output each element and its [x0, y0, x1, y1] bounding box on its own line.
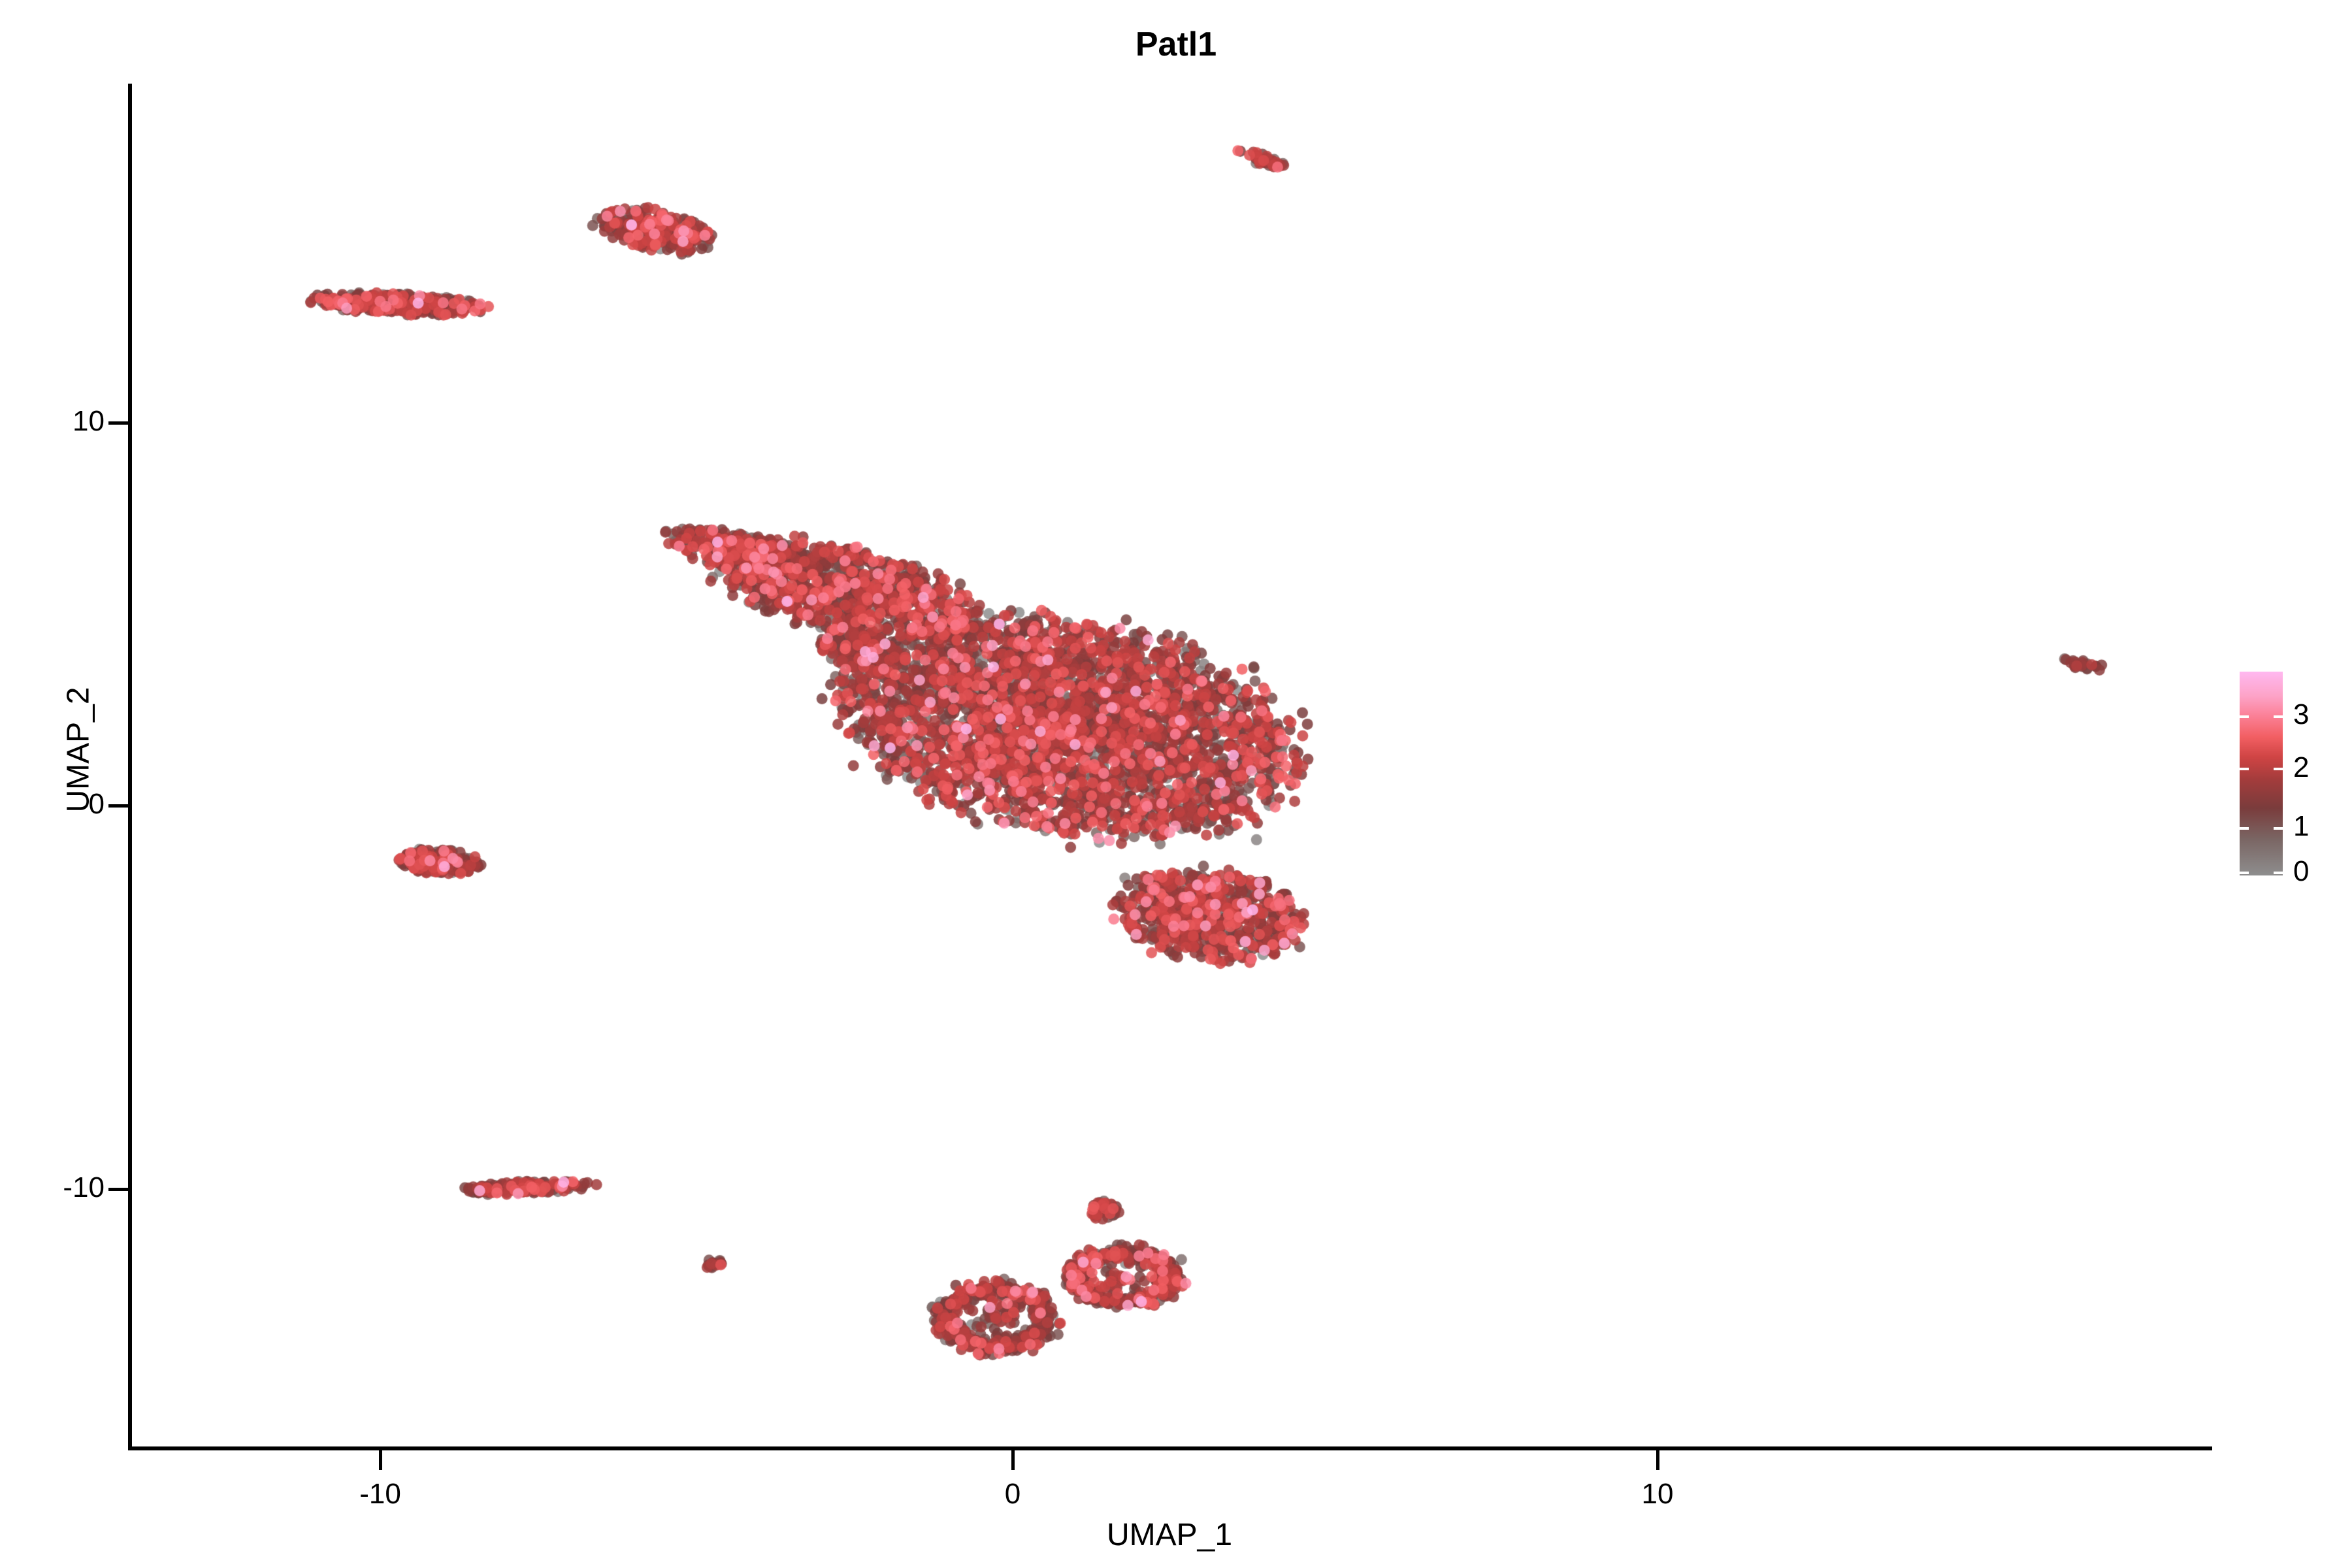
x-tick-label-neg10: -10 [282, 1478, 478, 1511]
colorbar-tick-3-right [2274, 715, 2283, 718]
y-tick-neg10 [108, 1188, 128, 1191]
x-axis-title: UMAP_1 [131, 1517, 2208, 1553]
x-axis-line [128, 1446, 2212, 1450]
y-tick-label-neg10: -10 [63, 1171, 105, 1204]
colorbar-tick-2-left [2240, 768, 2249, 770]
colorbar-tick-0-right [2274, 872, 2283, 874]
colorbar-tick-3-left [2240, 715, 2249, 718]
colorbar-label-0: 0 [2293, 857, 2309, 886]
y-tick-10 [108, 421, 128, 425]
y-tick-0 [108, 804, 128, 808]
colorbar-label-2: 2 [2293, 753, 2309, 782]
y-axis-line [128, 84, 132, 1450]
page-title: Patl1 [0, 25, 2352, 64]
colorbar-gradient [2240, 672, 2283, 875]
chart-root: Patl1 10 0 -10 -10 0 10 UMAP_1 UMAP_2 3 … [0, 0, 2352, 1568]
x-tick-label-0: 0 [915, 1478, 1111, 1511]
x-tick-10 [1656, 1450, 1659, 1470]
x-tick-0 [1011, 1450, 1015, 1470]
colorbar-tick-1-left [2240, 827, 2249, 830]
x-tick-neg10 [379, 1450, 382, 1470]
y-axis-title: UMAP_2 [61, 358, 97, 1142]
x-tick-label-10: 10 [1560, 1478, 1756, 1511]
scatter-points-canvas [131, 84, 2208, 1448]
colorbar-label-1: 1 [2293, 812, 2309, 841]
colorbar-tick-0-left [2240, 872, 2249, 874]
colorbar-tick-2-right [2274, 768, 2283, 770]
colorbar-tick-1-right [2274, 827, 2283, 830]
legend-colorbar: 3 2 1 0 [2234, 666, 2352, 889]
plot-panel [131, 84, 2208, 1448]
colorbar-label-3: 3 [2293, 700, 2309, 729]
